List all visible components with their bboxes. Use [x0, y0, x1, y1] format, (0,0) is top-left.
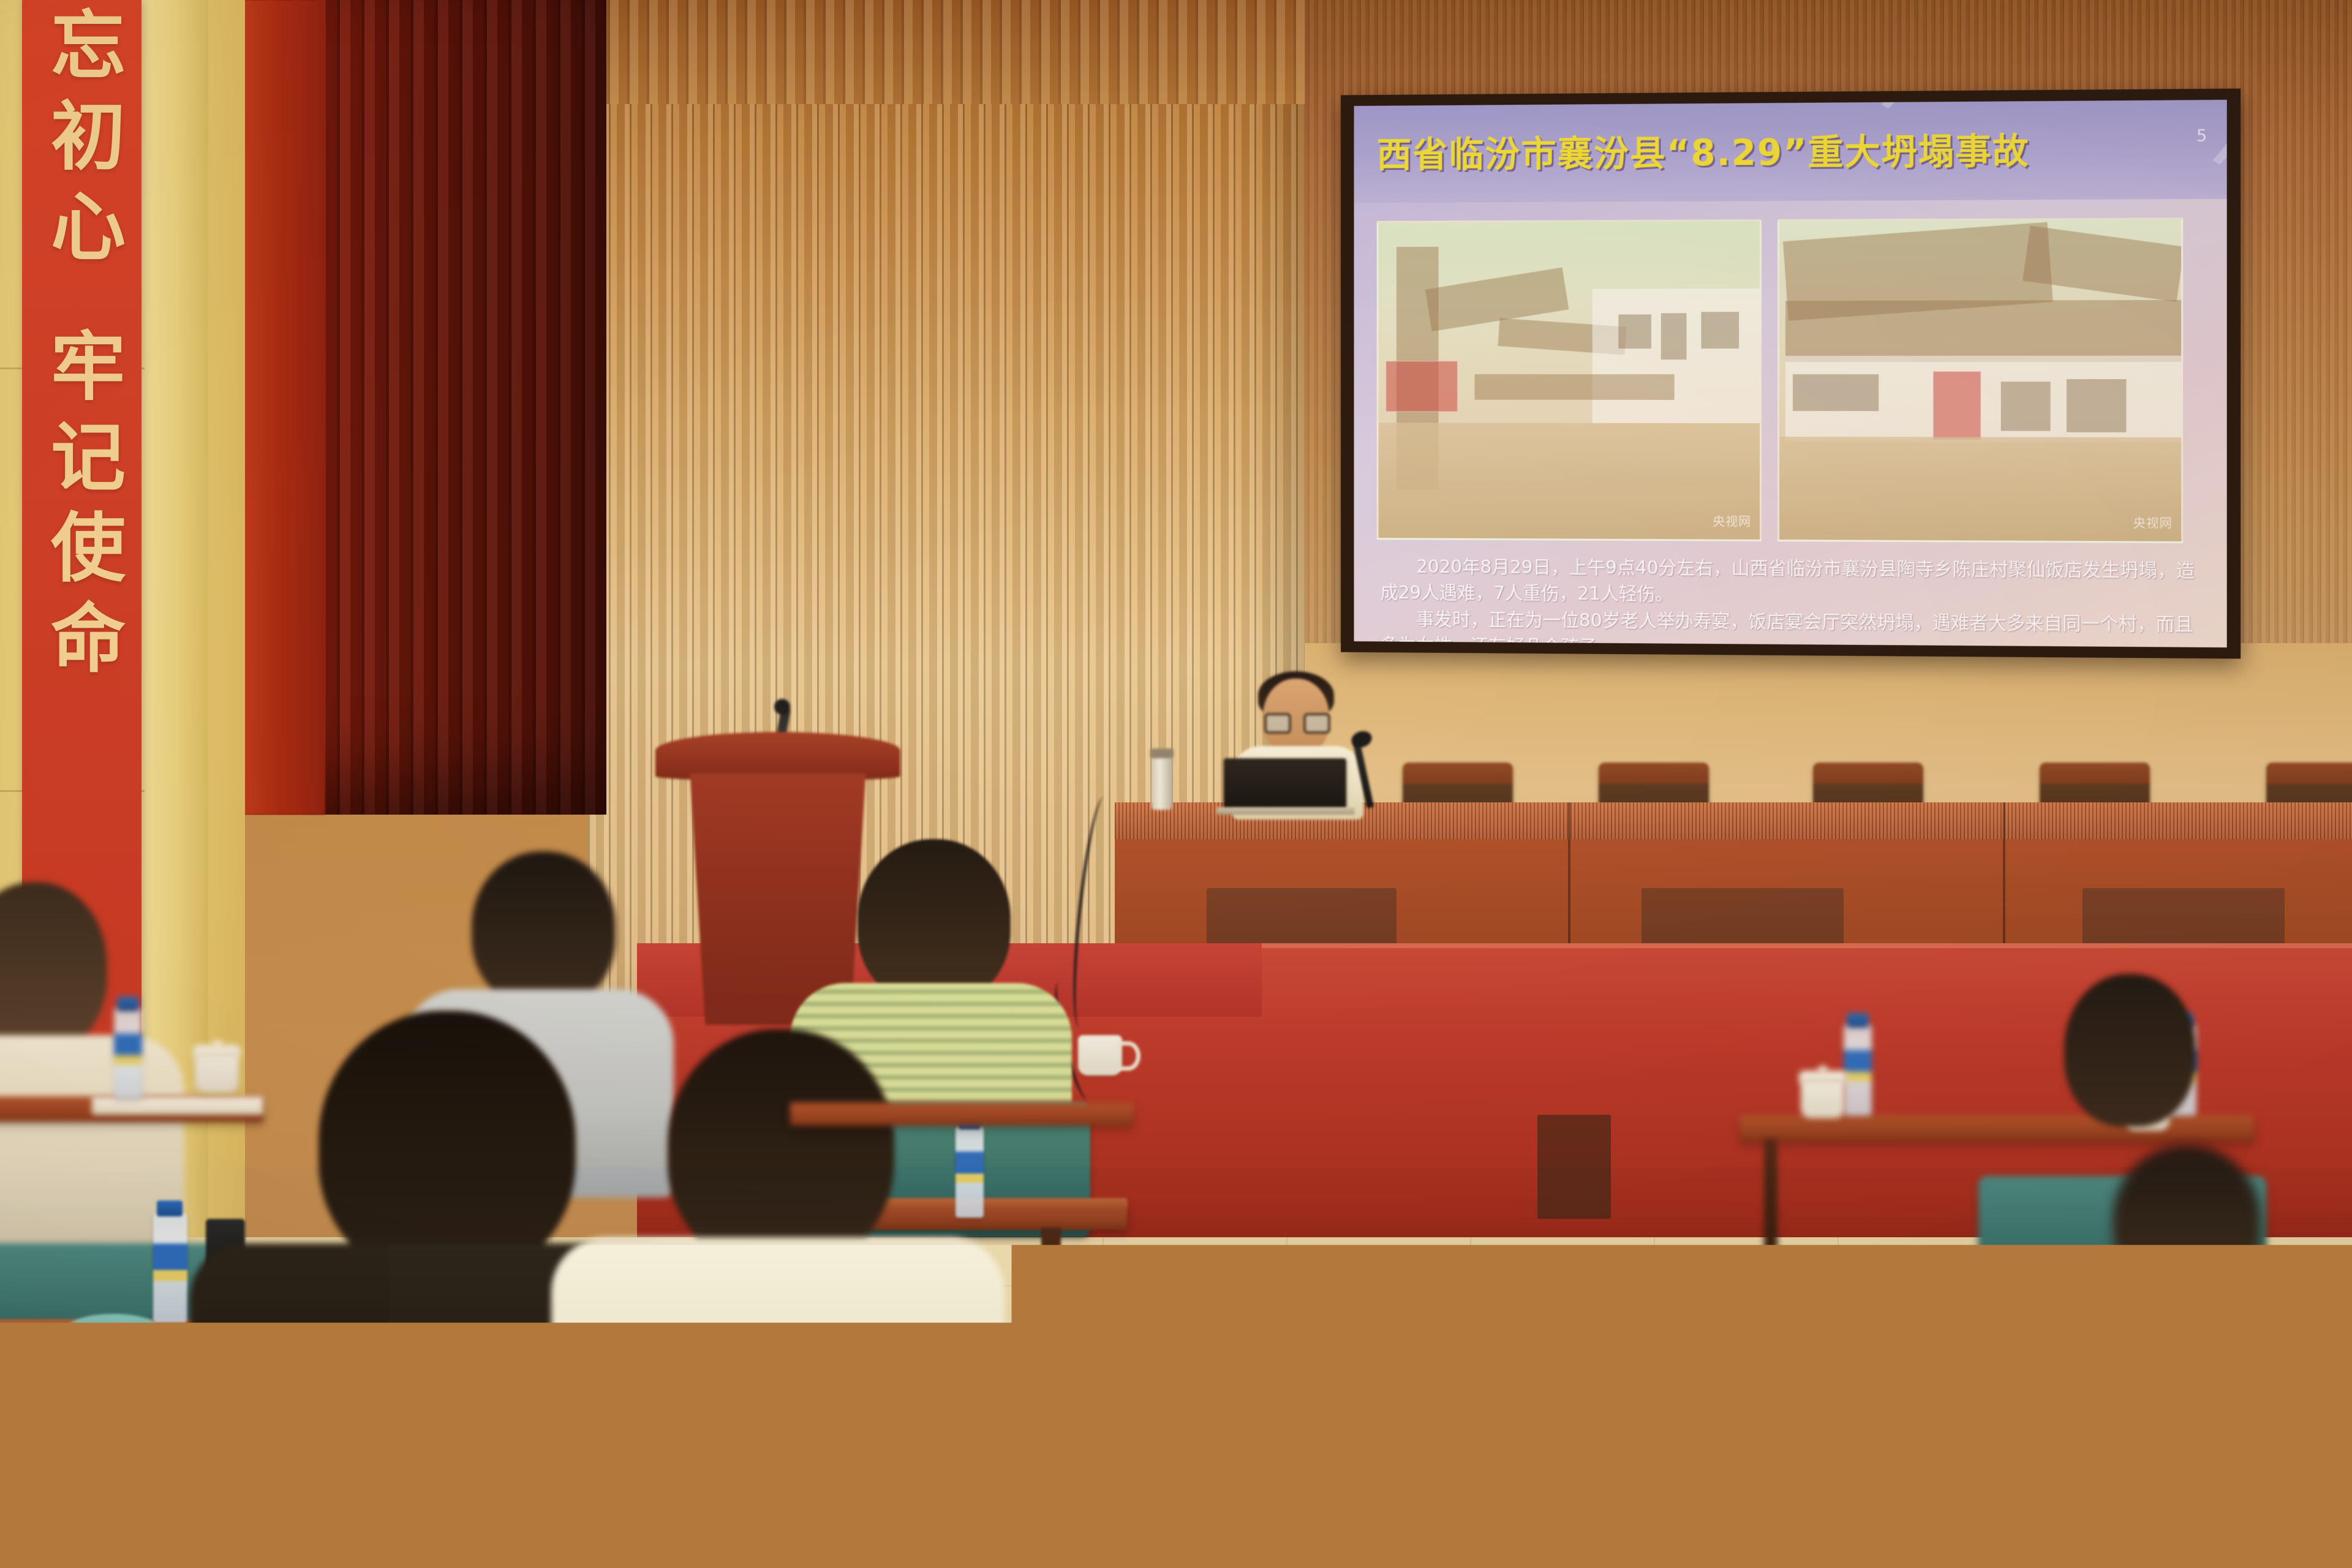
- audience-desk: [790, 1102, 1133, 1126]
- audience-chair: [723, 1366, 992, 1568]
- photo-doorway: [2001, 382, 2051, 431]
- banner-column-2: 牢记使命: [45, 327, 119, 690]
- water-bottle: [114, 1008, 142, 1099]
- attendee-hair: [858, 839, 1011, 1005]
- bottle-cap: [117, 997, 139, 1011]
- speaker-glasses-left: [1264, 713, 1291, 734]
- speaker-laptop: [1224, 758, 1346, 809]
- slide-paragraph-1: 2020年8月29日，上午9点40分左右，山西省临汾市襄汾县陶寺乡陈庄村聚仙饭店…: [1381, 554, 2201, 611]
- photo-doorway: [2067, 379, 2126, 432]
- slide-photo-right: 央视网: [1777, 217, 2183, 543]
- banner-column-1: 忘初心: [45, 6, 119, 278]
- slide-paragraph-2: 事发时，正在为一位80岁老人举办寿宴，饭店宴会厅突然坍塌，遇难者大多来自同一个村…: [1381, 607, 2201, 647]
- podium-microphone-icon: [774, 699, 790, 715]
- tea-cup-knob: [1818, 1066, 1828, 1073]
- speaker-laptop-base: [1216, 807, 1355, 815]
- slide-body-text: 2020年8月29日，上午9点40分左右，山西省临汾市襄汾县陶寺乡陈庄村聚仙饭店…: [1381, 554, 2201, 647]
- speaker-glasses-right: [1303, 713, 1330, 734]
- slide-page-number: 5: [2196, 127, 2207, 146]
- photo-ceiling-band: [1785, 300, 2181, 362]
- water-bottle: [1844, 1024, 1872, 1116]
- attendee-hair: [2064, 974, 2196, 1127]
- projection-screen-frame: 西省临汾市襄汾县“8.29”重大坍塌事故 5 央视网: [1341, 89, 2241, 659]
- photo-rubble: [1779, 437, 2181, 541]
- thermos-cap: [1150, 748, 1174, 758]
- speaker-thermos: [1151, 755, 1172, 810]
- slide-title: 西省临汾市襄汾县“8.29”重大坍塌事故: [1377, 122, 2030, 177]
- desk-papers: [2046, 1341, 2174, 1357]
- attendee-hair: [318, 1011, 576, 1280]
- conference-hall-photo: 忘初心 牢记使命 西省临汾市襄汾县“8.29”重大坍塌事故 5: [0, 0, 2352, 1568]
- photo-signboard: [1793, 374, 1879, 411]
- attendee-hair: [668, 1029, 894, 1268]
- attendee-head: [0, 882, 107, 1053]
- photo-awning: [1475, 374, 1675, 400]
- photo-window: [1661, 313, 1687, 360]
- desk-surface: [790, 1349, 1182, 1362]
- photo-watermark: 央视网: [2133, 513, 2173, 532]
- red-curtain-edge: [239, 0, 325, 815]
- photo-warning-sign: [1385, 361, 1458, 412]
- stage-vent-grille: [1537, 1115, 1611, 1219]
- tea-cup-knob: [213, 1040, 222, 1047]
- photo-watermark: 央视网: [1713, 512, 1751, 530]
- photo-window: [1701, 312, 1739, 349]
- attendee-torso: [2058, 1274, 2352, 1568]
- photo-poster: [1933, 371, 1981, 440]
- tea-cup: [1801, 1078, 1845, 1118]
- tea-cup-handle: [1116, 1041, 1140, 1071]
- face-mask: [67, 1314, 159, 1346]
- attendee-left-white-shirt: [0, 882, 184, 1262]
- slide-photo-left: 央视网: [1377, 219, 1762, 541]
- tan-curtain-valance: [588, 0, 1305, 104]
- bottle-cap: [157, 1200, 183, 1216]
- photo-window: [1618, 314, 1651, 349]
- water-bottle: [153, 1213, 187, 1323]
- desk-leg: [1764, 1139, 1777, 1292]
- bottle-cap: [1847, 1013, 1869, 1028]
- projection-screen: 西省临汾市襄汾县“8.29”重大坍塌事故 5 央视网: [1354, 100, 2227, 647]
- photo-rubble: [1379, 423, 1760, 540]
